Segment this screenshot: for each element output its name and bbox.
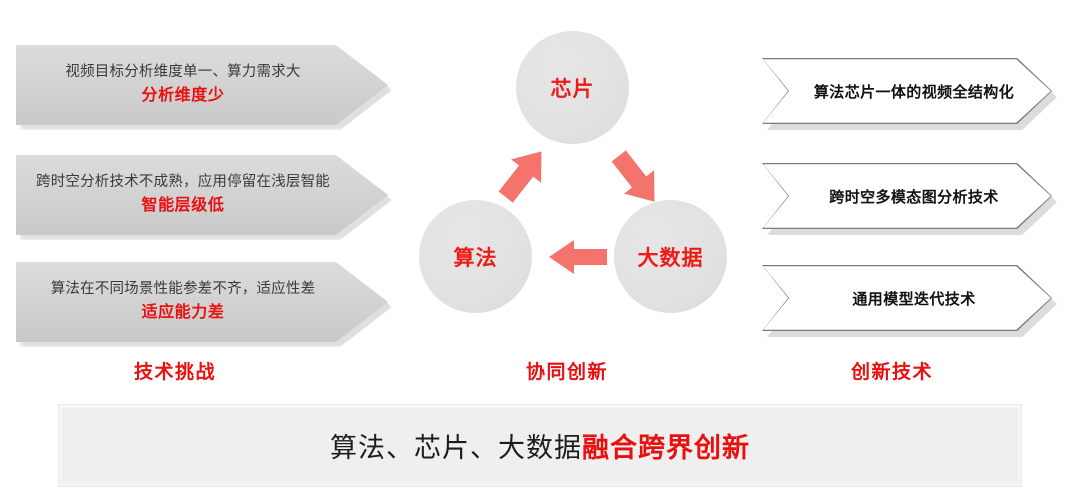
circle-algorithm[interactable]: 算法 bbox=[419, 200, 532, 313]
technology-chevron-1-border: 算法芯片一体的视频全结构化 bbox=[762, 58, 1052, 124]
summary-banner: 算法、芯片、大数据融合跨界创新 bbox=[58, 404, 1022, 487]
challenge-arrow-2-body: 跨时空分析技术不成熟，应用停留在浅层智能 智能层级低 bbox=[16, 155, 388, 235]
circle-bigdata-label: 大数据 bbox=[638, 242, 704, 272]
circle-chip-label: 芯片 bbox=[551, 73, 595, 103]
caption-collaborative-innovation: 协同创新 bbox=[526, 357, 608, 384]
technology-chevron-3[interactable]: 通用模型迭代技术 bbox=[762, 265, 1052, 331]
arrow-bigdata-to-algorithm-icon bbox=[547, 236, 609, 278]
technology-chevron-3-border: 通用模型迭代技术 bbox=[762, 265, 1052, 331]
caption-innovative-technology: 创新技术 bbox=[851, 357, 933, 384]
challenge-problem-text: 视频目标分析维度单一、算力需求大 bbox=[33, 62, 333, 83]
circle-chip[interactable]: 芯片 bbox=[516, 31, 629, 144]
caption-technical-challenges: 技术挑战 bbox=[134, 357, 216, 384]
challenge-problem-text: 算法在不同场景性能参差不齐，适应性差 bbox=[33, 279, 333, 300]
summary-banner-text: 算法、芯片、大数据融合跨界创新 bbox=[330, 426, 750, 465]
technology-chevron-2[interactable]: 跨时空多模态图分析技术 bbox=[762, 163, 1052, 229]
challenge-arrow-1[interactable]: 视频目标分析维度单一、算力需求大 分析维度少 bbox=[16, 45, 388, 125]
technology-chevron-2-border: 跨时空多模态图分析技术 bbox=[762, 163, 1052, 229]
challenge-arrow-3-body: 算法在不同场景性能参差不齐，适应性差 适应能力差 bbox=[16, 262, 388, 342]
technology-chevron-1-label: 算法芯片一体的视频全结构化 bbox=[800, 81, 1014, 102]
summary-text-red: 融合跨界创新 bbox=[582, 433, 750, 463]
technology-chevron-2-label: 跨时空多模态图分析技术 bbox=[815, 186, 998, 207]
circle-bigdata[interactable]: 大数据 bbox=[614, 200, 727, 313]
summary-text-black: 算法、芯片、大数据 bbox=[330, 433, 582, 463]
challenge-keyword-text: 智能层级低 bbox=[33, 194, 333, 217]
arrow-algorithm-to-chip-icon bbox=[492, 143, 554, 207]
challenge-keyword-text: 适应能力差 bbox=[33, 301, 333, 324]
challenge-keyword-text: 分析维度少 bbox=[33, 84, 333, 107]
challenge-problem-text: 跨时空分析技术不成熟，应用停留在浅层智能 bbox=[33, 172, 333, 193]
challenge-arrow-1-body: 视频目标分析维度单一、算力需求大 分析维度少 bbox=[16, 45, 388, 125]
circle-algorithm-label: 算法 bbox=[454, 242, 498, 272]
technology-chevron-1[interactable]: 算法芯片一体的视频全结构化 bbox=[762, 58, 1052, 124]
technology-chevron-3-label: 通用模型迭代技术 bbox=[838, 288, 975, 309]
challenge-arrow-2[interactable]: 跨时空分析技术不成熟，应用停留在浅层智能 智能层级低 bbox=[16, 155, 388, 235]
challenge-arrow-3[interactable]: 算法在不同场景性能参差不齐，适应性差 适应能力差 bbox=[16, 262, 388, 342]
arrow-chip-to-bigdata-icon bbox=[605, 146, 667, 210]
